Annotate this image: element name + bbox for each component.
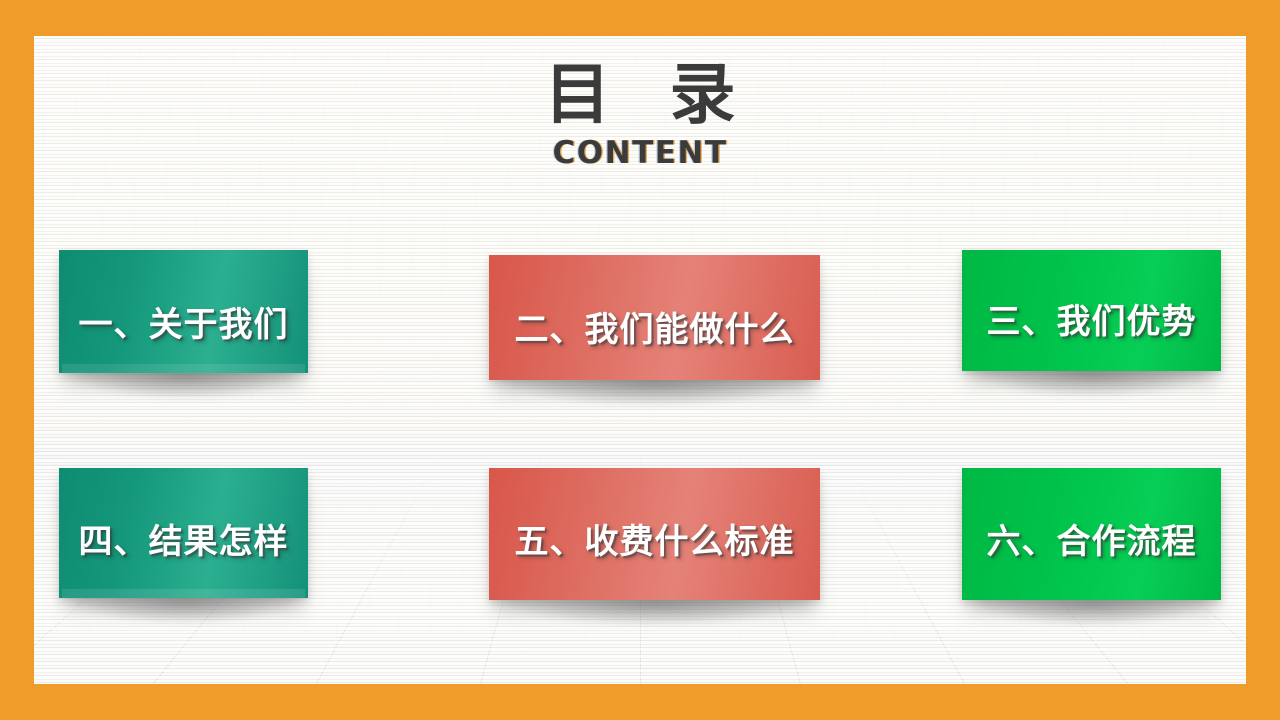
content-item-label: 三、我们优势 [962,294,1221,343]
content-item-label: 四、结果怎样 [59,514,308,563]
content-item-4[interactable]: 四、结果怎样 [59,468,308,598]
content-item-label: 六、合作流程 [962,514,1221,563]
content-item-6[interactable]: 六、合作流程 [962,468,1221,600]
content-item-label: 五、收费什么标准 [489,514,820,563]
slide-root: 目 录 CONTENT 一、关于我们 二、我们能做什么 三、我们优势 四、结果怎… [0,0,1280,720]
slide-heading: 目 录 CONTENT [34,60,1246,171]
content-item-label: 一、关于我们 [59,297,308,346]
slide-canvas: 目 录 CONTENT 一、关于我们 二、我们能做什么 三、我们优势 四、结果怎… [34,36,1246,684]
content-item-label: 二、我们能做什么 [489,302,820,351]
content-item-2[interactable]: 二、我们能做什么 [489,255,820,380]
content-item-3[interactable]: 三、我们优势 [962,250,1221,371]
content-item-5[interactable]: 五、收费什么标准 [489,468,820,600]
page-title-cn: 目 录 [34,60,1246,129]
content-item-1[interactable]: 一、关于我们 [59,250,308,373]
page-title-en: CONTENT [34,135,1246,171]
